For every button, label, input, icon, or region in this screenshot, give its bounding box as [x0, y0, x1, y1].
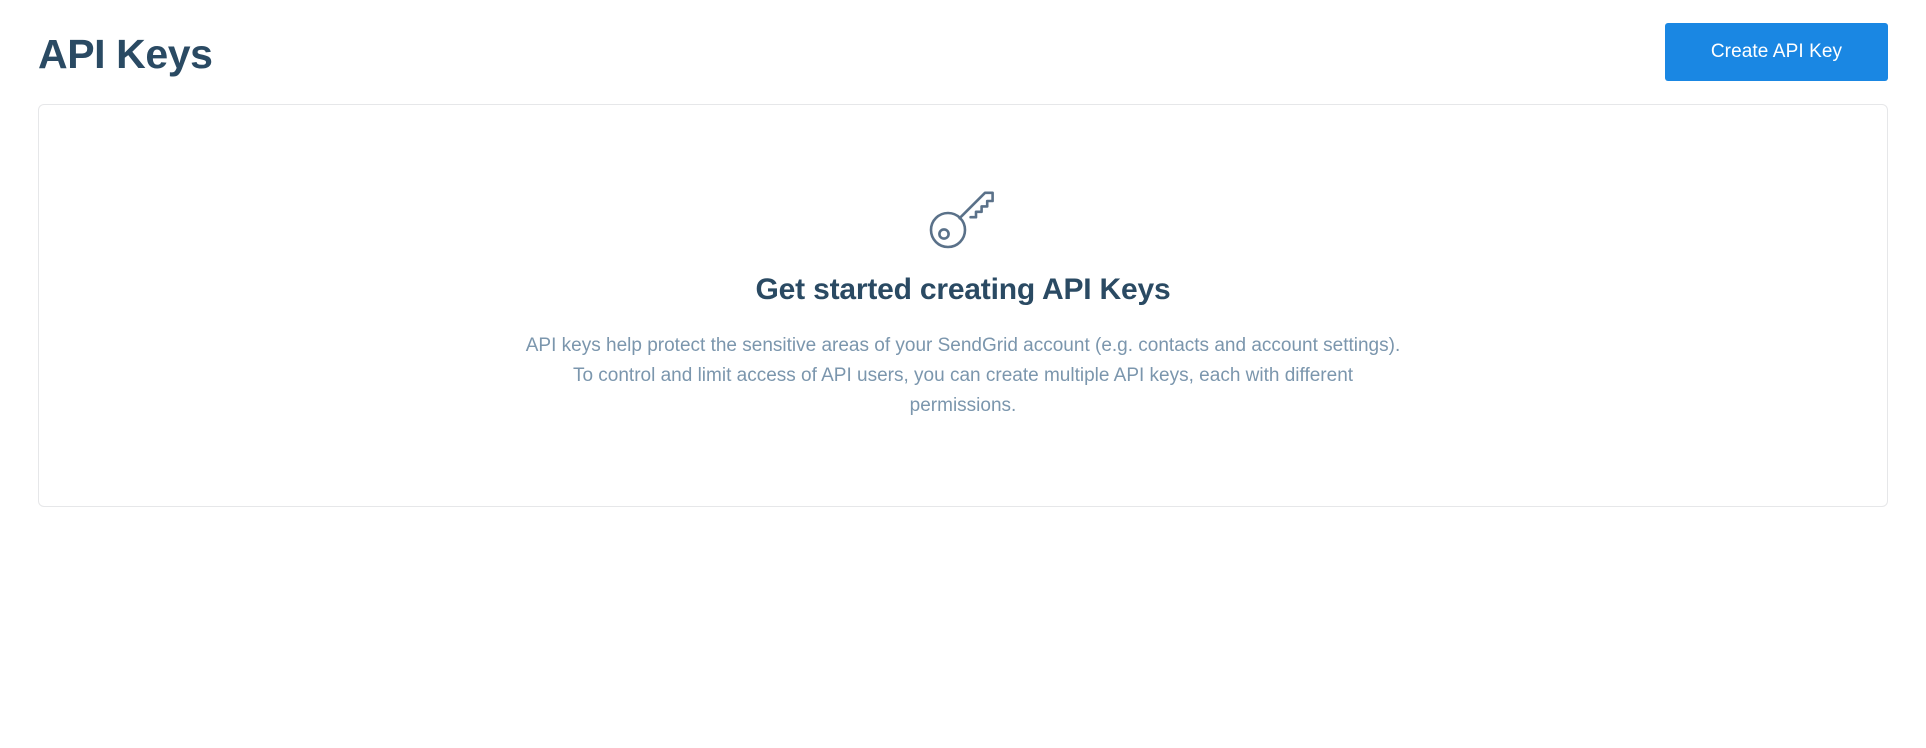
empty-state-title: Get started creating API Keys	[756, 273, 1171, 307]
page-title: API Keys	[38, 30, 213, 75]
empty-state-description: API keys help protect the sensitive area…	[523, 331, 1403, 421]
key-icon	[927, 189, 999, 273]
page-header: API Keys Create API Key	[38, 0, 1888, 104]
create-api-key-button[interactable]: Create API Key	[1665, 23, 1888, 81]
api-keys-page: API Keys Create API Key Get started crea…	[0, 0, 1926, 748]
api-keys-empty-state-card: Get started creating API Keys API keys h…	[38, 104, 1888, 507]
